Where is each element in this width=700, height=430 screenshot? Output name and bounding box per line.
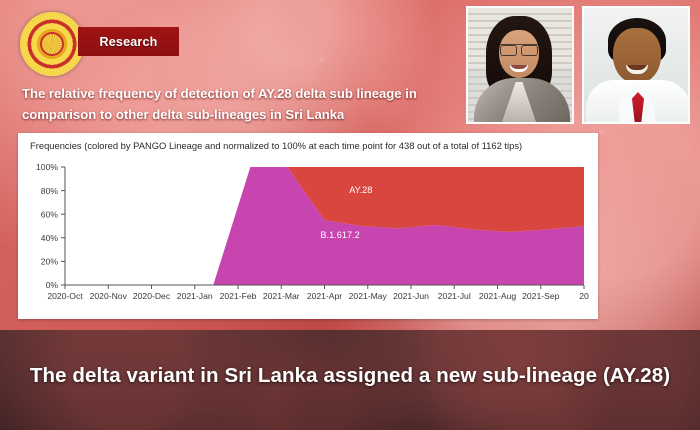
- x-tick-label: 2021-Feb: [220, 291, 257, 301]
- x-tick-label: 2021-Sep: [522, 291, 559, 301]
- researcher-photo-1: [466, 6, 574, 124]
- x-tick-label: 2021-May: [349, 291, 388, 301]
- face-shape: [613, 28, 661, 84]
- page-title: The relative frequency of detection of A…: [22, 83, 442, 125]
- chart-card: Frequencies (colored by PANGO Lineage an…: [18, 133, 598, 319]
- x-tick-label: 2021-Aug: [479, 291, 516, 301]
- chart-plot-area: 0%20%40%60%80%100%2020-Oct2020-Nov2020-D…: [18, 157, 598, 319]
- frequency-area-chart: 0%20%40%60%80%100%2020-Oct2020-Nov2020-D…: [18, 157, 598, 319]
- x-tick-label: 2020-Nov: [90, 291, 128, 301]
- seal-inner-emblem: [40, 32, 64, 56]
- y-tick-label: 60%: [41, 209, 59, 219]
- y-tick-label: 0%: [46, 280, 59, 290]
- x-tick-label: 2021-Jan: [177, 291, 213, 301]
- research-badge[interactable]: Research: [78, 27, 179, 56]
- y-tick-label: 100%: [36, 162, 58, 172]
- x-tick-label: 2021-Apr: [307, 291, 342, 301]
- y-tick-label: 40%: [41, 233, 59, 243]
- x-tick-label: 2020-Dec: [133, 291, 171, 301]
- researcher-photo-2-image: [584, 8, 688, 122]
- series-inline-label: B.1.617.2: [320, 230, 359, 240]
- x-tick-label: 2021-Jun: [393, 291, 429, 301]
- y-tick-label: 80%: [41, 186, 59, 196]
- researcher-photo-2: [582, 6, 690, 124]
- bottom-banner: The delta variant in Sri Lanka assigned …: [0, 330, 700, 430]
- bottom-banner-headline: The delta variant in Sri Lanka assigned …: [0, 364, 700, 388]
- x-tick-label: 2021-Jul: [438, 291, 471, 301]
- x-tick-label: 2021-Mar: [263, 291, 300, 301]
- x-tick-label: 20: [579, 291, 589, 301]
- y-tick-label: 20%: [41, 257, 59, 267]
- glasses-icon: [500, 44, 538, 53]
- institute-seal-logo: [20, 12, 84, 76]
- researcher-photo-1-image: [468, 8, 572, 122]
- x-tick-label: 2020-Oct: [47, 291, 83, 301]
- series-inline-label: AY.28: [349, 185, 372, 195]
- screenshot-root: Research The relative frequency of detec…: [0, 0, 700, 430]
- chart-caption: Frequencies (colored by PANGO Lineage an…: [30, 140, 522, 151]
